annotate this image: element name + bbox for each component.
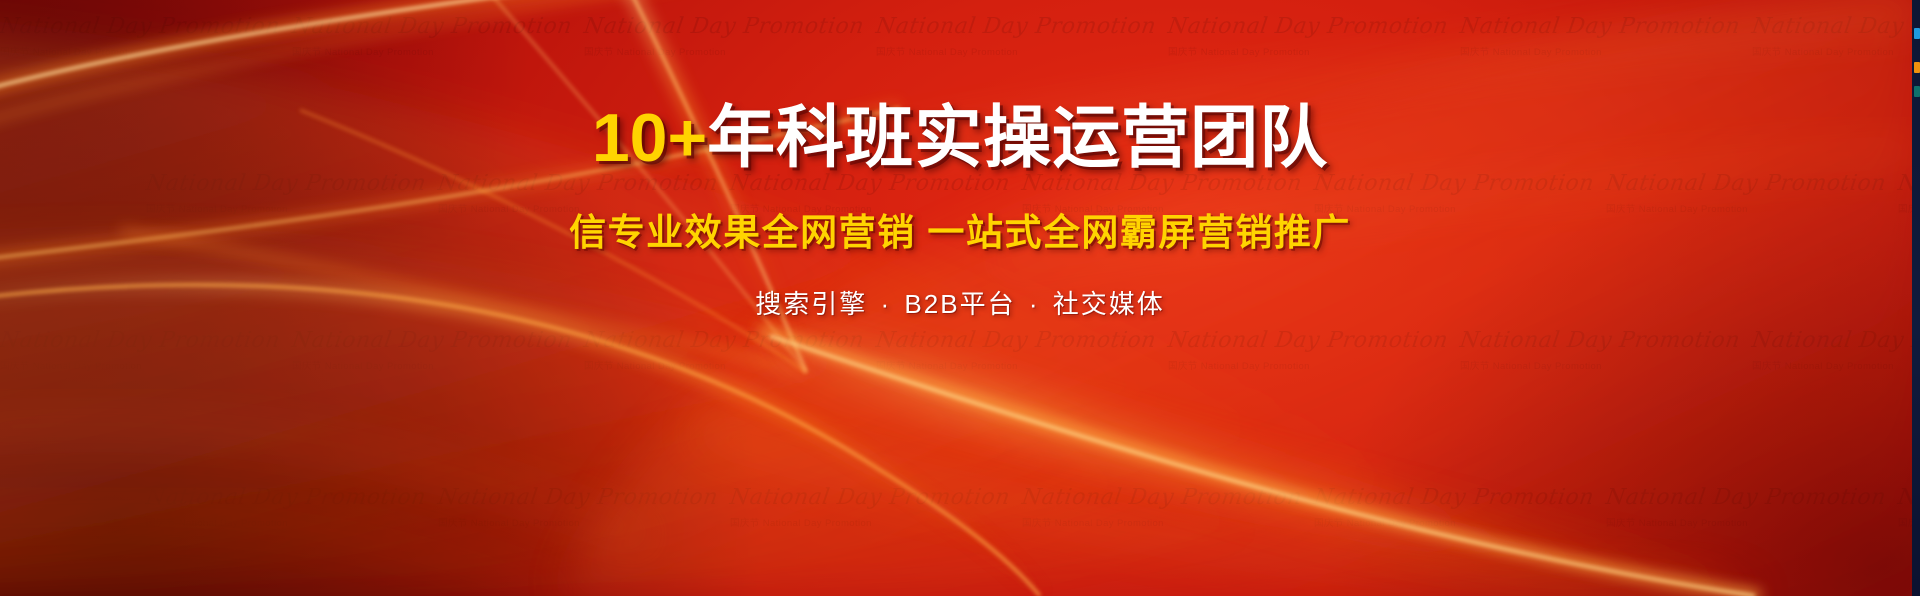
tagline-item-social-media: 社交媒体 [1053,289,1165,319]
right-edge-strip [1912,0,1920,596]
headline-text: 年科班实操运营团队 [707,100,1328,176]
banner-content: 10+年科班实操运营团队 信专业效果全网营销 一站式全网霸屏营销推广 搜索引擎 … [0,0,1920,596]
edge-dot-orange-icon [1914,62,1920,73]
tagline-separator-icon: · [877,289,896,319]
tagline-item-b2b-platform: B2B平台 [904,289,1015,319]
headline: 10+年科班实操运营团队 [592,104,1328,172]
tagline: 搜索引擎 · B2B平台 · 社交媒体 [755,284,1164,321]
tagline-item-search-engine: 搜索引擎 [755,289,867,319]
headline-highlight: 10+ [592,100,707,176]
promo-banner: National Day Promotion国庆节 National Day P… [0,0,1920,596]
edge-dot-teal-icon [1914,86,1920,97]
edge-dot-blue-icon [1914,28,1920,39]
tagline-separator-icon: · [1025,289,1044,319]
subheadline: 信专业效果全网营销 一站式全网霸屏营销推广 [569,202,1351,256]
